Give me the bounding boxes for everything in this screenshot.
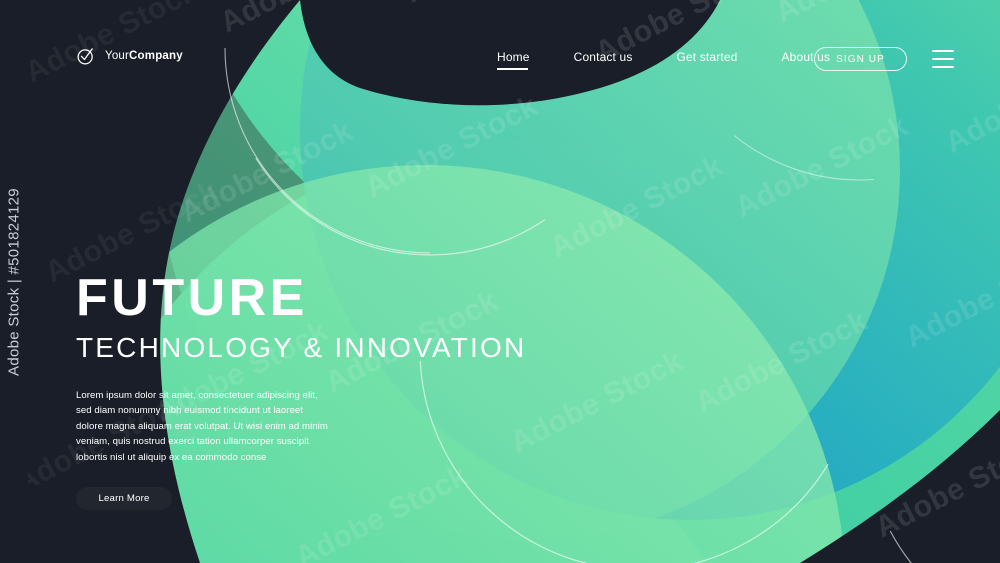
check-circle-icon [76,46,96,66]
hamburger-menu-icon[interactable] [932,50,954,68]
landing-page-hero: Adobe Stock Adobe Stock Adobe Stock Adob… [0,0,1000,563]
brand-name: YourCompany [105,50,183,62]
hero-title: FUTURE [76,272,536,325]
hamburger-line [932,58,954,60]
nav-item-home[interactable]: Home [497,50,530,70]
brand-name-bold: Company [129,50,183,62]
brand-logo[interactable]: YourCompany [76,46,183,66]
nav-item-contact-us[interactable]: Contact us [574,50,633,70]
sign-up-button[interactable]: SIGN UP [814,47,907,71]
hamburger-line [932,50,954,52]
learn-more-button[interactable]: Learn More [76,487,172,510]
brand-name-light: Your [105,50,129,62]
site-header: YourCompany Home Contact us Get started … [0,0,1000,100]
hero-content: FUTURE TECHNOLOGY & INNOVATION Lorem ips… [76,272,536,510]
stock-credit-bar: Adobe Stock | #501824129 [0,0,28,563]
hero-paragraph: Lorem ipsum dolor sit amet, consectetuer… [76,388,328,466]
hamburger-line [932,66,954,68]
nav-item-get-started[interactable]: Get started [677,50,738,70]
stock-credit-text: Adobe Stock | #501824129 [6,188,23,376]
hero-subtitle: TECHNOLOGY & INNOVATION [76,333,536,364]
